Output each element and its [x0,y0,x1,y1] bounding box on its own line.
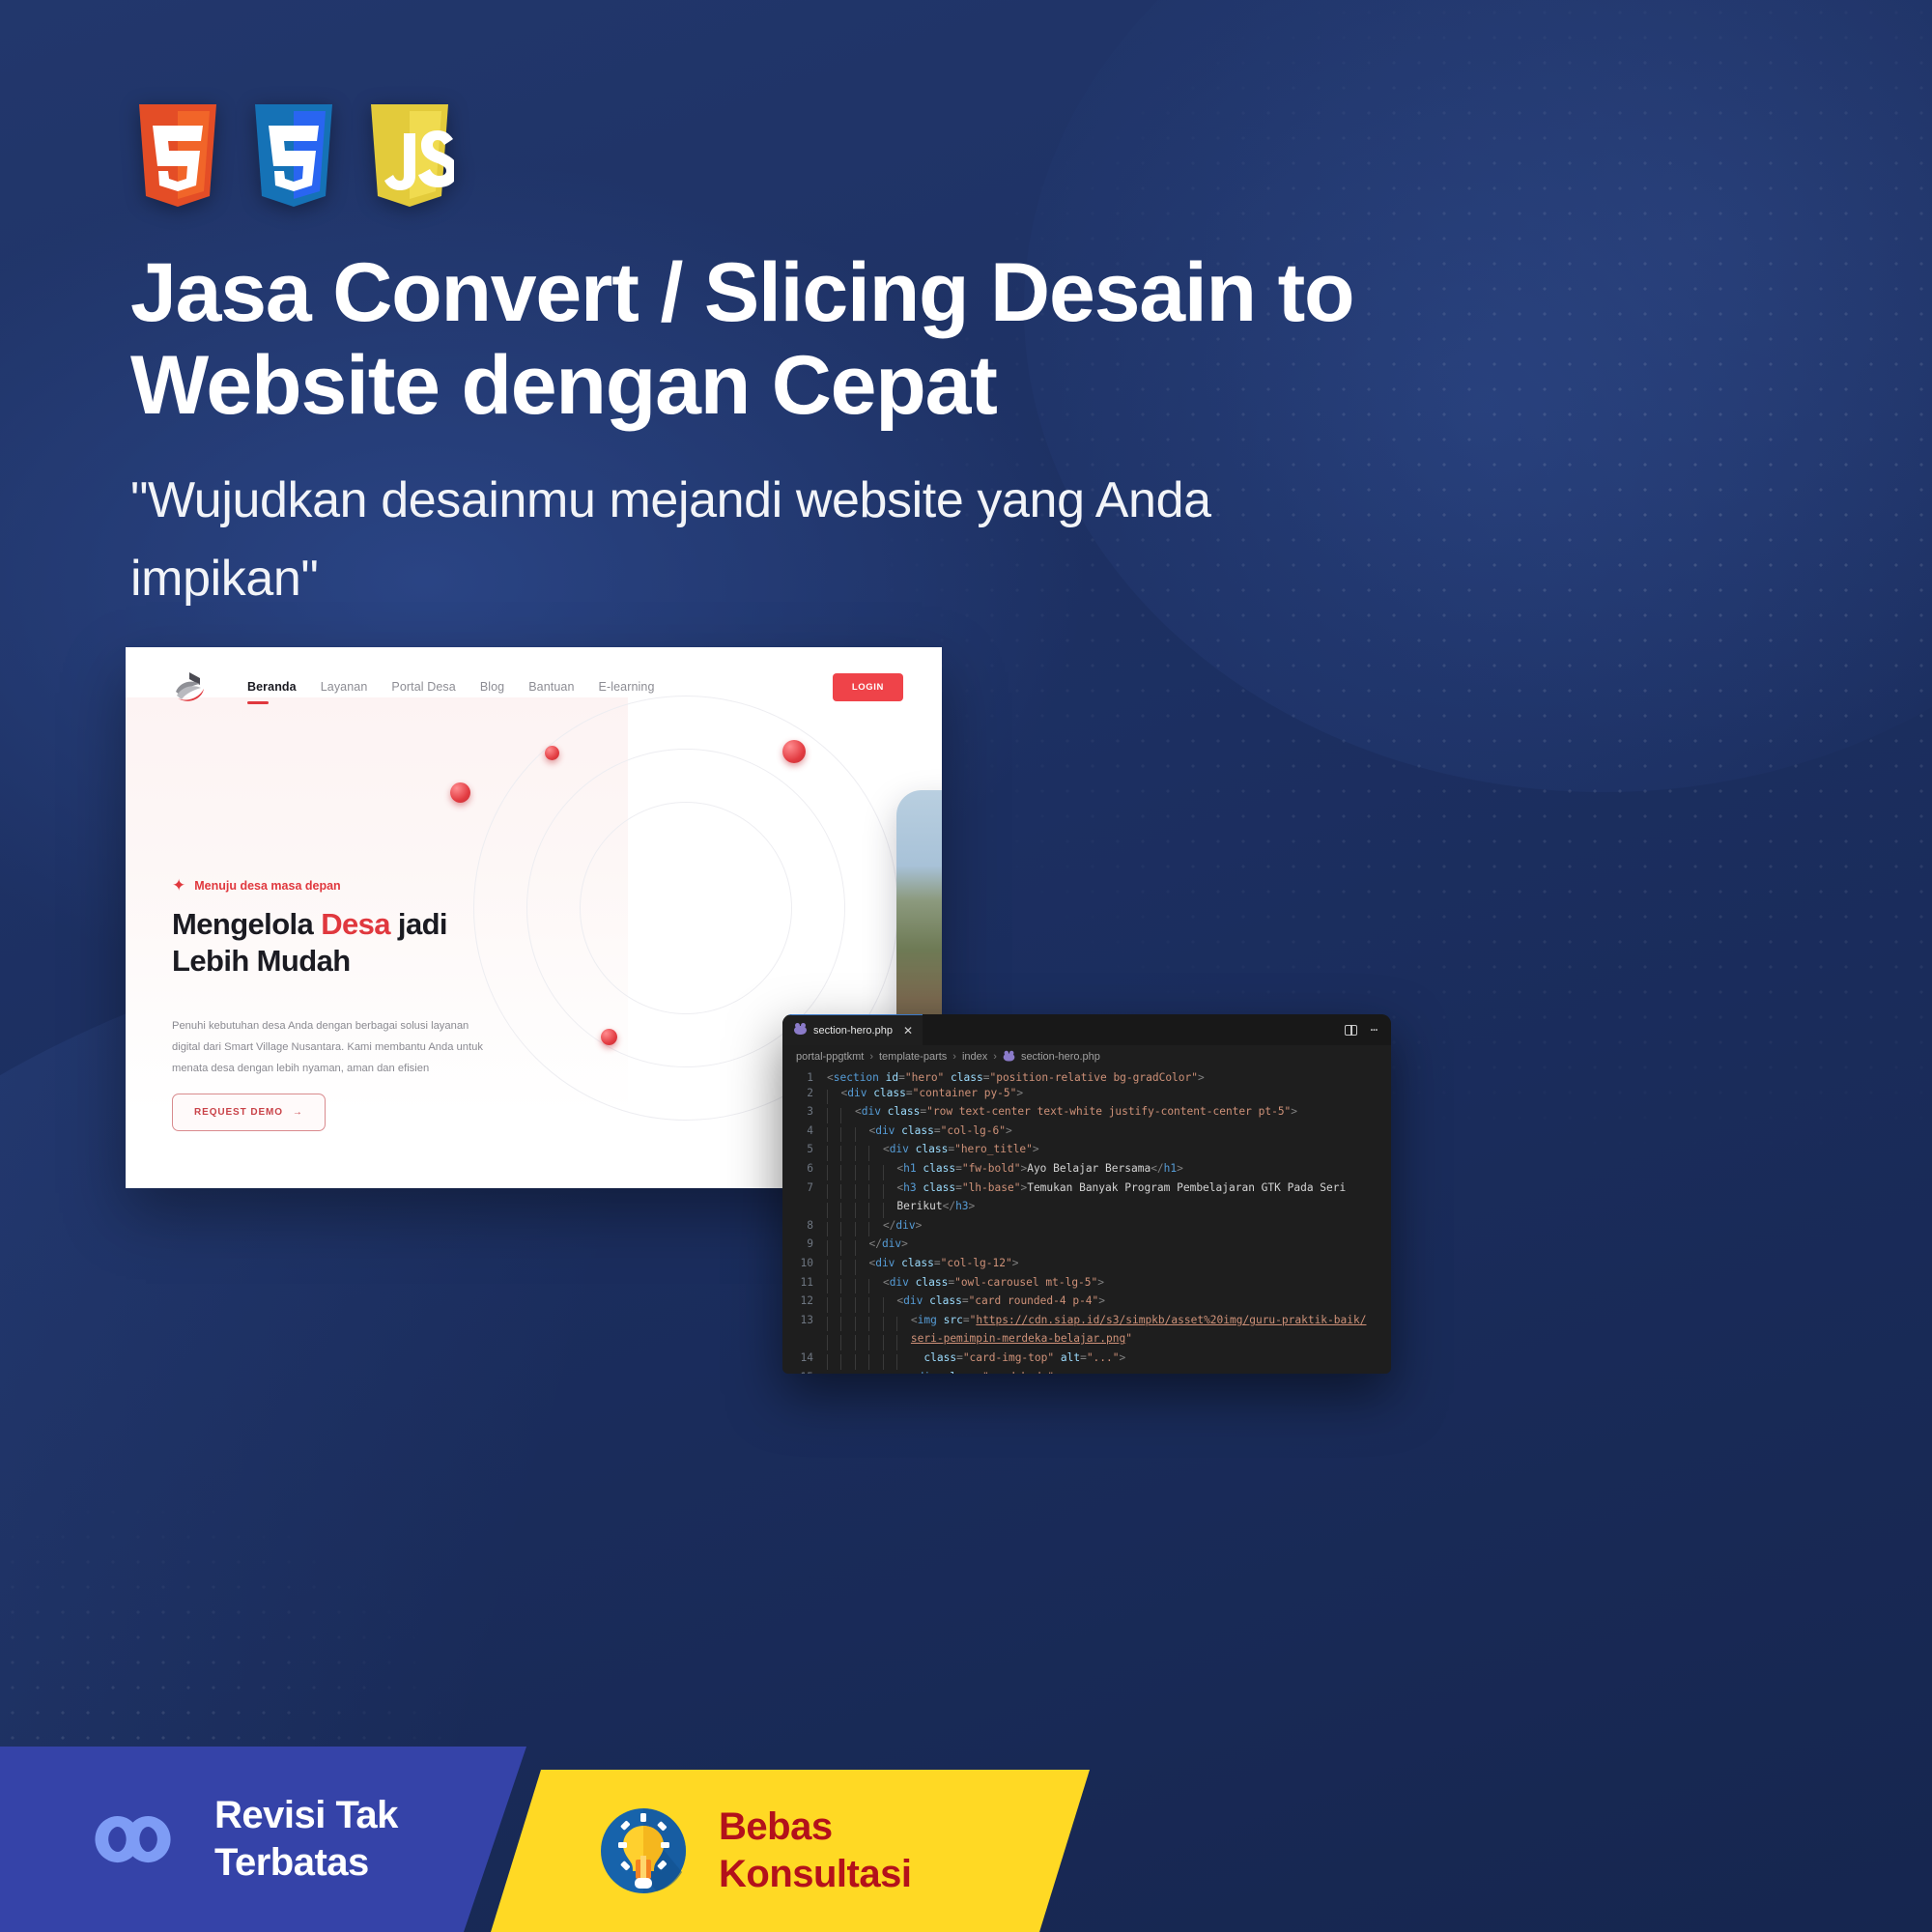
code-text: <div class="col-lg-6"> [827,1123,1012,1143]
token-tag: h3 [955,1200,968,1212]
token-punct: = [962,1294,969,1307]
code-line: 13 <img src="https://cdn.siap.id/s3/simp… [782,1313,1391,1332]
indent-guide [883,1317,896,1332]
line-number: · [782,1331,827,1350]
nav-item-layanan[interactable]: Layanan [321,680,368,694]
token-punct: > [1291,1105,1297,1118]
token-punct: > [1033,1143,1039,1155]
token-str: "col-lg-12" [941,1257,1012,1269]
breadcrumb-item-1[interactable]: template-parts [879,1051,947,1063]
indent-guide [883,1354,896,1370]
indent-guide [855,1317,868,1332]
token-punct: > [916,1219,923,1232]
code-line: · seri-pemimpin-merdeka-belajar.png" [782,1331,1391,1350]
token-url: https://cdn.siap.id/s3/simpkb/asset%20im… [976,1314,1366,1326]
token-txt: Berikut [896,1200,942,1212]
token-str: "card rounded-4 p-4" [969,1294,1099,1307]
close-icon[interactable]: ✕ [903,1024,913,1037]
token-punct: </ [943,1200,955,1212]
code-text: class="card-img-top" alt="..."> [827,1350,1125,1370]
token-punct: > [1006,1124,1012,1137]
indent-guide [827,1240,840,1256]
token-punct: < [911,1371,918,1375]
token-punct: = [955,1181,962,1194]
code-text: <div class="hero_title"> [827,1142,1039,1161]
token-punct: </ [883,1219,895,1232]
token-punct: = [955,1162,962,1175]
indent-guide [883,1165,896,1180]
badge-line-1: Bebas [719,1804,911,1851]
indent-guide [827,1374,840,1375]
token-txt: Ayo Belajar Bersama [1027,1162,1151,1175]
code-line: 15 <div class="card-body"> [782,1370,1391,1375]
code-line: 7 <h3 class="lh-base">Temukan Banyak Pro… [782,1180,1391,1200]
code-text: <div class="card-body"> [827,1370,1061,1375]
token-attr: class [937,1371,976,1375]
line-number: 1 [782,1070,827,1086]
indent-guide [883,1335,896,1350]
indent-guide [883,1297,896,1313]
token-tag: div [847,1087,867,1099]
token-str: "container py-5" [913,1087,1017,1099]
code-text: <div class="card rounded-4 p-4"> [827,1293,1105,1313]
page-subtitle: "Wujudkan desainmu mejandi website yang … [130,462,1319,617]
token-str: "..." [1087,1351,1120,1364]
indent-guide [840,1184,854,1200]
indent-guide [868,1317,882,1332]
more-actions-icon[interactable]: ⋯ [1371,1023,1378,1037]
indent-guide [896,1335,910,1350]
indent-guide [827,1260,840,1275]
token-tag: div [890,1143,909,1155]
breadcrumb-item-0[interactable]: portal-ppgtkmt [796,1051,864,1063]
indent-guide [840,1240,854,1256]
indent-guide [855,1222,868,1237]
token-attr: alt [1054,1351,1080,1364]
token-tag: div [875,1124,895,1137]
token-str: "fw-bold" [962,1162,1021,1175]
line-number: · [782,1199,827,1218]
token-punct: < [855,1105,862,1118]
code-text: seri-pemimpin-merdeka-belajar.png" [827,1331,1132,1350]
editor-code-area[interactable]: 1<section id="hero" class="position-rela… [782,1068,1391,1374]
token-tag: h1 [1164,1162,1177,1175]
token-punct: < [911,1314,918,1326]
indent-guide [855,1279,868,1294]
arrow-right-icon: → [293,1107,303,1118]
mockup-heading: Mengelola Desa jadi Lebih Mudah [172,906,491,980]
token-tag: div [895,1219,915,1232]
indent-guide [868,1165,882,1180]
token-str: "owl-carousel mt-lg-5" [954,1276,1097,1289]
token-str: "col-lg-6" [941,1124,1006,1137]
request-demo-button[interactable]: REQUEST DEMO → [172,1094,326,1131]
indent-guide [840,1335,854,1350]
html5-logo [133,104,222,207]
decor-dot [782,740,806,763]
token-attr: class [909,1143,948,1155]
token-punct: </ [868,1237,881,1250]
code-line: 4 <div class="col-lg-6"> [782,1123,1391,1143]
indent-guide [827,1184,840,1200]
indent-guide [855,1374,868,1375]
editor-tab-section-hero[interactable]: section-hero.php ✕ [782,1014,923,1045]
indent-guide [840,1146,854,1161]
token-punct: = [898,1071,905,1084]
token-tag: div [890,1276,909,1289]
indent-guide [855,1146,868,1161]
code-text: <h1 class="fw-bold">Ayo Belajar Bersama<… [827,1161,1183,1180]
token-punct: > [1054,1371,1061,1375]
code-line: 2 <div class="container py-5"> [782,1086,1391,1105]
token-punct: > [1097,1276,1104,1289]
token-str: "card-img-top" [963,1351,1054,1364]
split-editor-icon[interactable] [1345,1025,1357,1036]
code-text: Berikut</h3> [827,1199,975,1218]
mockup-paragraph: Penuhi kebutuhan desa Anda dengan berbag… [172,1016,483,1080]
token-punct: > [1012,1257,1019,1269]
token-attr: class [867,1087,905,1099]
token-str: "position-relative bg-gradColor" [989,1071,1198,1084]
token-punct: = [934,1257,941,1269]
decor-dot [601,1029,617,1045]
chevron-right-icon: › [952,1051,956,1063]
token-tag: h3 [903,1181,916,1194]
editor-tab-label: section-hero.php [813,1025,893,1037]
javascript-logo [365,104,454,207]
css3-logo [249,104,338,207]
token-tag: img [918,1314,937,1326]
indent-guide [883,1374,896,1375]
sparkle-icon: ✦ [172,877,185,894]
indent-guide [855,1240,868,1256]
editor-titlebar: section-hero.php ✕ ⋯ [782,1014,1391,1045]
code-text: </div> [827,1236,908,1256]
php-file-icon [1004,1053,1015,1061]
mockup-eyebrow-text: Menuju desa masa depan [194,879,340,893]
mockup-navbar: Beranda Layanan Portal Desa Blog Bantuan… [172,667,903,707]
token-punct: </ [1151,1162,1163,1175]
token-attr: class [911,1351,956,1364]
token-punct: > [1016,1087,1023,1099]
token-url: seri-pemimpin-merdeka-belajar.png [911,1332,1125,1345]
token-attr: class [917,1162,955,1175]
indent-guide [855,1335,868,1350]
indent-guide [827,1165,840,1180]
badge-line-1: Revisi Tak [214,1792,398,1839]
token-punct: > [1098,1294,1105,1307]
token-punct: = [934,1124,941,1137]
indent-guide [840,1108,854,1123]
indent-guide [840,1165,854,1180]
token-punct: > [1177,1162,1183,1175]
nav-item-e-learning[interactable]: E-learning [599,680,655,694]
code-text: <div class="owl-carousel mt-lg-5"> [827,1275,1104,1294]
indent-guide [840,1279,854,1294]
indent-guide [827,1222,840,1237]
token-tag: div [918,1371,937,1375]
line-number: 11 [782,1275,827,1294]
chevron-right-icon: › [993,1051,997,1063]
token-punct: = [956,1351,963,1364]
indent-guide [868,1335,882,1350]
code-line: 9 </div> [782,1236,1391,1256]
token-punct: > [1120,1351,1126,1364]
token-tag: div [903,1294,923,1307]
token-str: "card-body" [982,1371,1054,1375]
line-number: 7 [782,1180,827,1200]
code-text: <h3 class="lh-base">Temukan Banyak Progr… [827,1180,1346,1200]
indent-guide [855,1354,868,1370]
line-number: 10 [782,1256,827,1275]
php-file-icon [794,1026,807,1035]
token-str: "row text-center text-white justify-cont… [926,1105,1291,1118]
token-txt: Temukan Banyak Program Pembelajaran GTK … [1027,1181,1346,1194]
nav-item-beranda[interactable]: Beranda [247,680,297,694]
line-number: 13 [782,1313,827,1332]
decor-dot [450,782,470,803]
token-attr: id [879,1071,898,1084]
mockup-heading-highlight: Desa [321,907,390,941]
indent-guide [827,1203,840,1218]
token-punct: < [883,1143,890,1155]
indent-guide [827,1335,840,1350]
token-punct: < [883,1276,890,1289]
token-punct: = [906,1087,913,1099]
code-line: 12 <div class="card rounded-4 p-4"> [782,1293,1391,1313]
indent-guide [855,1184,868,1200]
indent-guide [868,1184,882,1200]
indent-guide [840,1317,854,1332]
indent-guide [868,1203,882,1218]
indent-guide [840,1203,854,1218]
code-text: <div class="container py-5"> [827,1086,1023,1105]
token-punct: < [827,1071,834,1084]
breadcrumb-item-3[interactable]: section-hero.php [1021,1051,1100,1063]
token-punct: = [1080,1351,1087,1364]
indent-guide [868,1279,882,1294]
indent-guide [827,1279,840,1294]
line-number: 9 [782,1236,827,1256]
indent-guide [855,1203,868,1218]
indent-guide [868,1222,882,1237]
chevron-right-icon: › [869,1051,873,1063]
indent-guide [827,1297,840,1313]
indent-guide [827,1146,840,1161]
indent-guide [855,1297,868,1313]
badge-line-2: Konsultasi [719,1851,911,1898]
line-number: 12 [782,1293,827,1313]
code-editor-window: section-hero.php ✕ ⋯ portal-ppgtkmt › te… [782,1014,1391,1374]
line-number: 14 [782,1350,827,1370]
nav-item-blog[interactable]: Blog [480,680,504,694]
token-attr: class [881,1105,920,1118]
token-attr: class [895,1124,933,1137]
token-punct: = [963,1314,970,1326]
indent-guide [896,1354,910,1370]
token-str: "lh-base" [962,1181,1021,1194]
token-str: "hero" [905,1071,944,1084]
decor-dot [545,746,559,760]
indent-guide [840,1374,854,1375]
token-punct: > [969,1200,976,1212]
token-tag: div [862,1105,881,1118]
breadcrumb: portal-ppgtkmt › template-parts › index … [782,1045,1391,1068]
line-number: 8 [782,1218,827,1237]
login-button[interactable]: LOGIN [833,673,903,701]
indent-guide [840,1354,854,1370]
nav-item-bantuan[interactable]: Bantuan [528,680,574,694]
indent-guide [868,1146,882,1161]
line-number: 4 [782,1123,827,1143]
line-number: 5 [782,1142,827,1161]
tech-logo-group [133,104,454,207]
token-str: "hero_title" [954,1143,1033,1155]
line-number: 15 [782,1370,827,1375]
code-line: 10 <div class="col-lg-12"> [782,1256,1391,1275]
indent-guide [840,1222,854,1237]
token-attr: class [895,1257,933,1269]
badge-line-2: Terbatas [214,1839,398,1887]
page-title: Jasa Convert / Slicing Desain to Website… [130,246,1377,433]
token-punct: > [901,1237,908,1250]
indent-guide [827,1090,840,1105]
indent-guide [883,1184,896,1200]
token-attr: class [909,1276,948,1289]
indent-guide [855,1260,868,1275]
token-tag: div [875,1257,895,1269]
indent-guide [883,1203,896,1218]
indent-guide [868,1374,882,1375]
mockup-eyebrow: ✦ Menuju desa masa depan [172,877,341,894]
code-text: </div> [827,1218,922,1237]
line-number: 3 [782,1104,827,1123]
token-tag: h1 [903,1162,916,1175]
indent-guide [868,1297,882,1313]
infinity-icon [66,1803,182,1876]
breadcrumb-item-2[interactable]: index [962,1051,987,1063]
indent-guide [827,1354,840,1370]
token-str: " [1125,1332,1132,1345]
token-attr: class [917,1181,955,1194]
code-line: 6 <h1 class="fw-bold">Ayo Belajar Bersam… [782,1161,1391,1180]
code-text: <img src="https://cdn.siap.id/s3/simpkb/… [827,1313,1366,1332]
indent-guide [827,1317,840,1332]
indent-guide [855,1127,868,1143]
indent-guide [840,1260,854,1275]
code-line: 1<section id="hero" class="position-rela… [782,1070,1391,1086]
smart-village-logo-icon [172,670,209,703]
code-line: 5 <div class="hero_title"> [782,1142,1391,1161]
indent-guide [896,1317,910,1332]
indent-guide [855,1165,868,1180]
token-attr: class [923,1294,961,1307]
code-line: 14 class="card-img-top" alt="..."> [782,1350,1391,1370]
code-line: 11 <div class="owl-carousel mt-lg-5"> [782,1275,1391,1294]
code-text: <section id="hero" class="position-relat… [827,1070,1205,1086]
indent-guide [896,1374,910,1375]
indent-guide [840,1297,854,1313]
request-demo-label: REQUEST DEMO [194,1107,283,1118]
indent-guide [827,1108,840,1123]
badge-bebas-konsultasi: Bebas Konsultasi [491,1770,1090,1932]
code-line: 3 <div class="row text-center text-white… [782,1104,1391,1123]
badge-revisi-tak-terbatas: Revisi Tak Terbatas [0,1747,541,1932]
nav-item-portal-desa[interactable]: Portal Desa [391,680,455,694]
token-tag: section [834,1071,879,1084]
indent-guide [868,1354,882,1370]
code-line: · Berikut</h3> [782,1199,1391,1218]
token-punct: > [1198,1071,1205,1084]
mockup-nav-links: Beranda Layanan Portal Desa Blog Bantuan… [247,680,655,694]
indent-guide [840,1127,854,1143]
line-number: 6 [782,1161,827,1180]
mockup-heading-part1: Mengelola [172,907,321,941]
editor-actions: ⋯ [1345,1014,1391,1045]
lightbulb-icon [597,1804,690,1897]
code-text: <div class="col-lg-12"> [827,1256,1018,1275]
token-attr: class [944,1071,982,1084]
line-number: 2 [782,1086,827,1105]
code-line: 8 </div> [782,1218,1391,1237]
token-tag: div [882,1237,901,1250]
indent-guide [827,1127,840,1143]
code-text: <div class="row text-center text-white j… [827,1104,1297,1123]
token-attr: src [937,1314,963,1326]
